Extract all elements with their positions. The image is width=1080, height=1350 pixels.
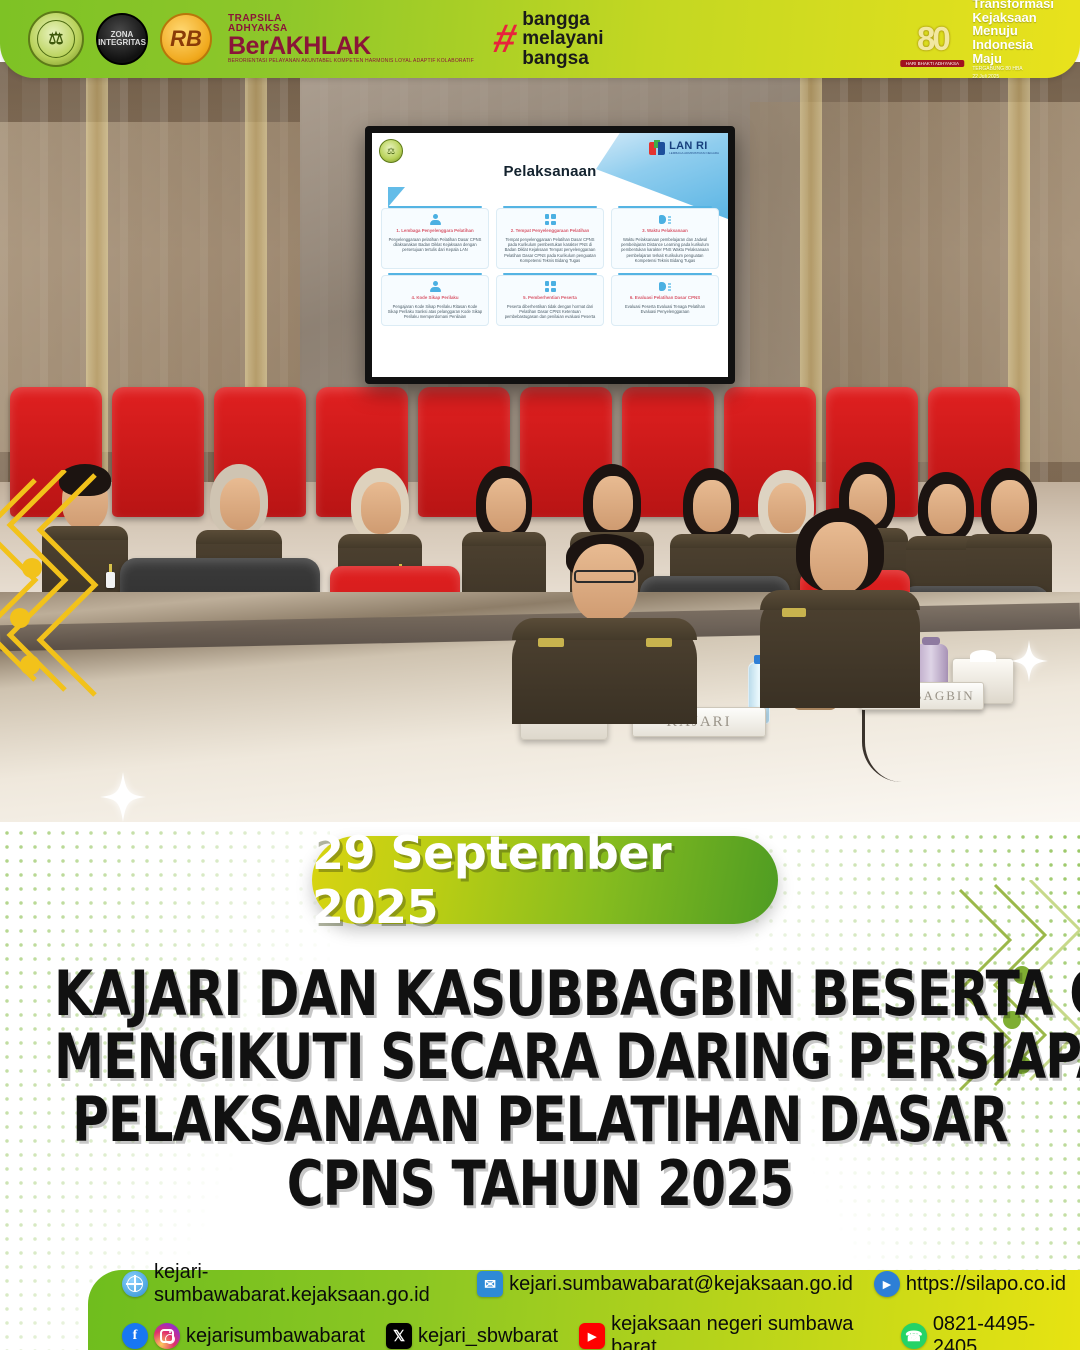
- headline-line-1: KAJARI DAN KASUBBAGBIN BESERTA CPNS: [54, 962, 1026, 1025]
- slide-card-body: Tempat penyelenggaraan Pelatihan Dasar C…: [502, 237, 598, 264]
- email-icon: ✉: [477, 1271, 503, 1297]
- grid-icon: [502, 280, 598, 293]
- footer-row-1: kejari-sumbawabarat.kejaksaan.go.id ✉ ke…: [122, 1261, 1080, 1307]
- presentation-screen: ⚖ LAN RI LEMBAGA ADMINISTRASI NEGARA Pel…: [365, 126, 735, 384]
- slide-card-heading: 2. Tempat Penyelenggaraan Pelatihan: [502, 228, 598, 234]
- slide-card-body: Evaluasi Peserta Evaluasi Tenaga Pelatih…: [617, 304, 713, 315]
- lightbulb-icon: [617, 280, 713, 293]
- lan-ri-name: LAN RI: [669, 140, 707, 152]
- footer-youtube[interactable]: ▶ kejaksaan negeri sumbawa barat: [579, 1313, 880, 1350]
- footer-whatsapp-label: 0821-4495-2405: [933, 1313, 1066, 1350]
- lan-ri-mark-icon: [649, 140, 666, 155]
- kasubbagbin-person: [760, 508, 920, 708]
- transformasi-line4: Indonesia: [972, 38, 1054, 52]
- footer-social-fb-ig[interactable]: f kejarisumbawabarat: [122, 1323, 365, 1349]
- slide-card-row-2: 4. Kode Sikap Perilaku Pengajaran Kode S…: [381, 275, 719, 326]
- slide-card-heading: 1. Lembaga Penyelenggara Pelatihan: [387, 228, 483, 234]
- globe-icon: [122, 1271, 148, 1297]
- lan-ri-logo: LAN RI LEMBAGA ADMINISTRASI NEGARA: [649, 140, 719, 155]
- footer-social-label: kejarisumbawabarat: [186, 1325, 365, 1348]
- bangga-line3: bangsa: [522, 49, 603, 68]
- sparkle-icon-right: [1010, 640, 1048, 682]
- slide-card-body: Penyelenggaraan pelatihan Pelatihan Dasa…: [387, 237, 483, 253]
- anniversary-number: 80: [917, 20, 948, 58]
- grid-icon: [502, 213, 598, 226]
- slide-card-body: Waktu Pelaksanaan pembelajaran dan Jadwa…: [617, 237, 713, 264]
- header-logos: ⚖ ZONA INTEGRITAS RB TRAPSILA ADHYAKSA B…: [0, 10, 604, 68]
- rb-text: RB: [170, 26, 202, 52]
- bangga-line1: bangga: [522, 10, 603, 29]
- facebook-icon: f: [122, 1323, 148, 1349]
- footer-x-label: kejari_sbwbarat: [418, 1325, 558, 1348]
- slide-card: 1. Lembaga Penyelenggara Pelatihan Penye…: [381, 208, 489, 269]
- anniversary-block: 80 HARI BHAKTI ADHYAKSA Transformasi Kej…: [901, 0, 1080, 81]
- berakhlak-logo: TRAPSILA ADHYAKSA BerAKHLAK BERORIENTASI…: [224, 14, 474, 64]
- seal-glyph: ⚖: [48, 29, 63, 49]
- kejaksaan-ri-seal-icon: ⚖: [28, 11, 84, 67]
- user-icon: [387, 213, 483, 226]
- slide-card-row-1: 1. Lembaga Penyelenggara Pelatihan Penye…: [381, 208, 719, 269]
- slide-card-heading: 5. Pemberhentian Peserta: [502, 295, 598, 301]
- transformasi-line2: Kejaksaan: [972, 11, 1054, 25]
- user-icon: [387, 280, 483, 293]
- footer-email-label: kejari.sumbawabarat@kejaksaan.go.id: [509, 1273, 853, 1296]
- slide-title: Pelaksanaan: [372, 163, 728, 180]
- berakhlak-fineprint: BERORIENTASI PELAYANAN AKUNTABEL KOMPETE…: [228, 58, 474, 64]
- headline-line-4: CPNS TAHUN 2025: [54, 1152, 1026, 1215]
- footer-website-label: kejari-sumbawabarat.kejaksaan.go.id: [154, 1261, 456, 1307]
- berakhlak-brand: BerAKHLAK: [228, 32, 371, 60]
- zigzag-decoration-left: [0, 470, 110, 700]
- slide-card-body: Peserta diberhentikan tidak dengan horma…: [502, 304, 598, 320]
- instagram-icon: [154, 1323, 180, 1349]
- slide-card: 6. Evaluasi Pelatihan Dasar CPNS Evaluas…: [611, 275, 719, 326]
- slide-card-heading: 3. Waktu Pelaksanaan: [617, 228, 713, 234]
- slide: ⚖ LAN RI LEMBAGA ADMINISTRASI NEGARA Pel…: [372, 133, 728, 377]
- header-bar: ⚖ ZONA INTEGRITAS RB TRAPSILA ADHYAKSA B…: [0, 0, 1080, 78]
- footer-link-label: https://silapo.co.id: [906, 1273, 1066, 1296]
- slide-triangle-decoration: [388, 187, 405, 207]
- slide-card-heading: 6. Evaluasi Pelatihan Dasar CPNS: [617, 295, 713, 301]
- lan-ri-sub: LEMBAGA ADMINISTRASI NEGARA: [669, 152, 719, 155]
- footer-youtube-label: kejaksaan negeri sumbawa barat: [611, 1313, 880, 1350]
- lightbulb-icon: [617, 213, 713, 226]
- footer-website[interactable]: kejari-sumbawabarat.kejaksaan.go.id: [122, 1261, 456, 1307]
- lan-ri-text: LAN RI LEMBAGA ADMINISTRASI NEGARA: [669, 141, 719, 155]
- footer-whatsapp[interactable]: ☎ 0821-4495-2405: [901, 1313, 1066, 1350]
- bangga-line2: melayani: [522, 29, 603, 48]
- slide-card-heading: 4. Kode Sikap Perilaku: [387, 295, 483, 301]
- kejaksaan-seal-icon: ⚖: [379, 139, 403, 163]
- footer-email[interactable]: ✉ kejari.sumbawabarat@kejaksaan.go.id: [477, 1271, 853, 1297]
- date-text: 29 September 2025: [312, 826, 778, 934]
- footer-row-2: f kejarisumbawabarat 𝕏 kejari_sbwbarat ▶…: [122, 1313, 1080, 1350]
- slide-card: 5. Pemberhentian Peserta Peserta diberhe…: [496, 275, 604, 326]
- footer-x[interactable]: 𝕏 kejari_sbwbarat: [386, 1323, 558, 1349]
- footer-contact-bar: kejari-sumbawabarat.kejaksaan.go.id ✉ ke…: [88, 1270, 1080, 1350]
- hashtag-icon: #: [490, 21, 520, 57]
- whatsapp-icon: ☎: [901, 1323, 927, 1349]
- anniversary-ribbon: HARI BHAKTI ADHYAKSA: [901, 60, 964, 67]
- kajari-person: [512, 534, 697, 724]
- slide-cards: 1. Lembaga Penyelenggara Pelatihan Penye…: [381, 208, 719, 326]
- transformasi-sub1: TERGABUNG 80 HBA: [972, 67, 1054, 73]
- link-icon: ►: [874, 1271, 900, 1297]
- youtube-icon: ▶: [579, 1323, 605, 1349]
- bangga-melayani-bangsa-logo: # bangga melayani bangsa: [494, 10, 604, 68]
- sparkle-icon-left: [100, 772, 146, 822]
- transformasi-sub2: 22 Juli 2025: [972, 75, 1054, 81]
- anniversary-80-logo: 80 HARI BHAKTI ADHYAKSA: [901, 8, 963, 70]
- zona-integritas-seal-icon: ZONA INTEGRITAS: [96, 13, 148, 65]
- headline-line-3: PELAKSANAAN PELATIHAN DASAR: [54, 1088, 1026, 1151]
- slide-card: 4. Kode Sikap Perilaku Pengajaran Kode S…: [381, 275, 489, 326]
- headline-line-2: MENGIKUTI SECARA DARING PERSIAPAN: [54, 1025, 1026, 1088]
- transformasi-text: Transformasi Kejaksaan Menuju Indonesia …: [972, 0, 1054, 81]
- transformasi-line5: Maju: [972, 52, 1054, 66]
- slide-card: 3. Waktu Pelaksanaan Waktu Pelaksanaan p…: [611, 208, 719, 269]
- x-twitter-icon: 𝕏: [386, 1323, 412, 1349]
- headline: KAJARI DAN KASUBBAGBIN BESERTA CPNS MENG…: [0, 962, 1080, 1215]
- slide-card: 2. Tempat Penyelenggaraan Pelatihan Temp…: [496, 208, 604, 269]
- zi-text: ZONA INTEGRITAS: [98, 31, 146, 48]
- footer-link[interactable]: ► https://silapo.co.id: [874, 1271, 1066, 1297]
- poster-canvas: KAJARI KASUBAGBIN ⚖ LAN RI LEMBAGA ADMIN…: [0, 0, 1080, 1350]
- transformasi-line3: Menuju: [972, 24, 1054, 38]
- date-banner: 29 September 2025: [312, 836, 778, 924]
- reformasi-birokrasi-seal-icon: RB: [160, 13, 212, 65]
- slide-card-body: Pengajaran Kode Sikap Perilaku Ritasan K…: [387, 304, 483, 320]
